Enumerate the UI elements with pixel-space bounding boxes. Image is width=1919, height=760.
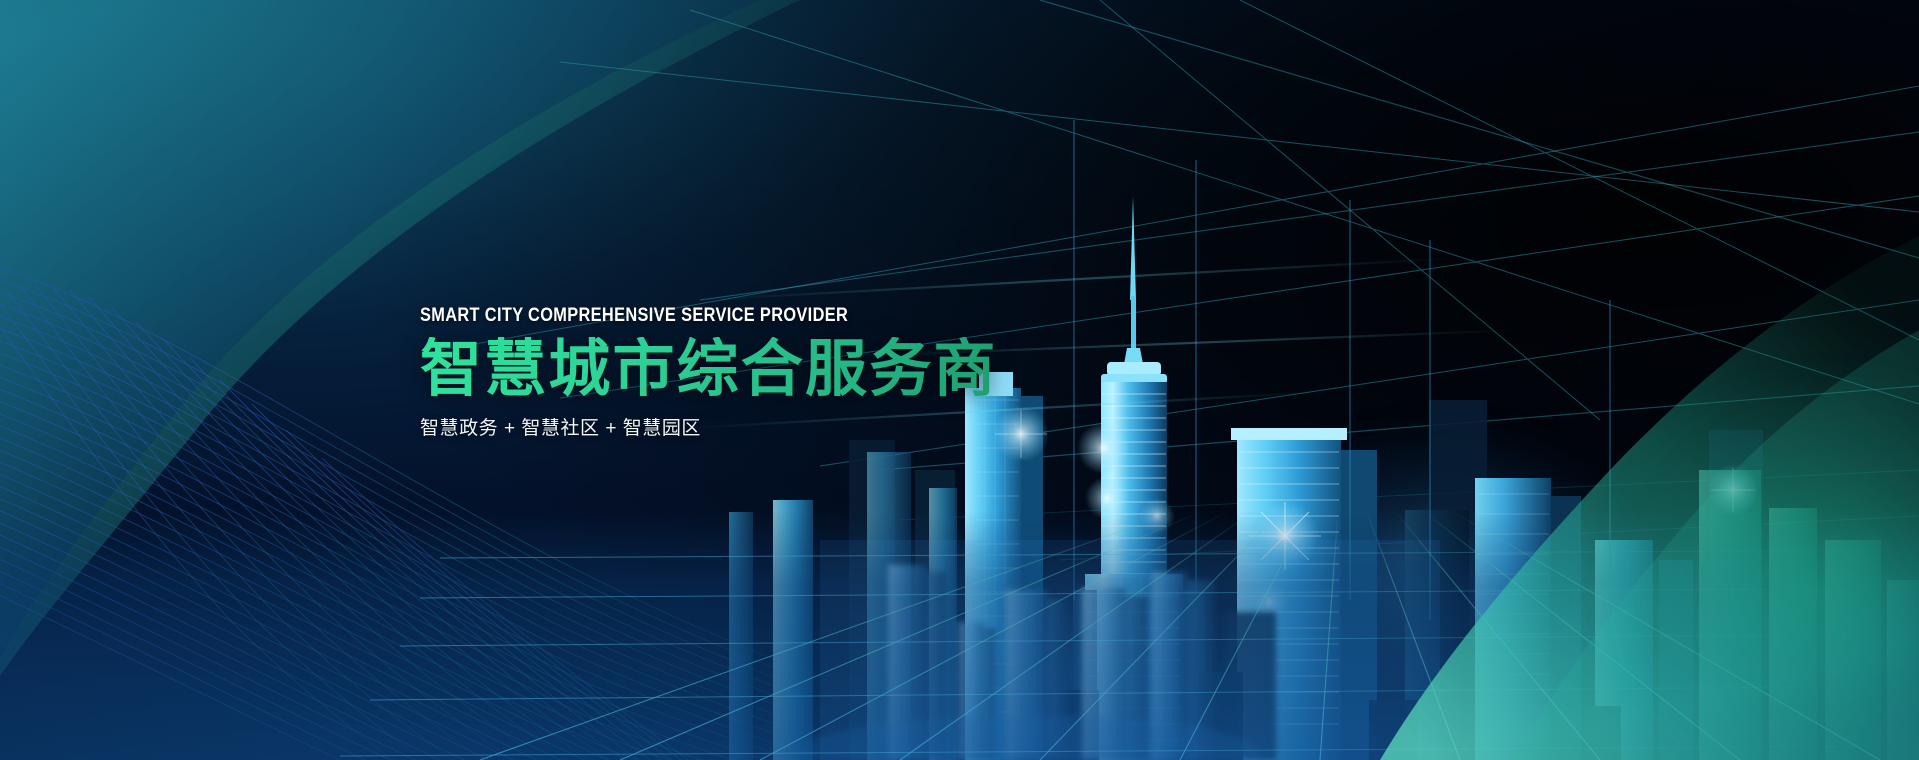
banner-eyebrow-text: SMART CITY COMPREHENSIVE SERVICE PROVIDE…: [420, 306, 1074, 325]
banner-headline-title: 智慧城市综合服务商: [420, 337, 1180, 403]
smart-city-hero-banner: SMART CITY COMPREHENSIVE SERVICE PROVIDE…: [0, 0, 1919, 760]
banner-copy-block: SMART CITY COMPREHENSIVE SERVICE PROVIDE…: [420, 306, 1180, 438]
banner-subtitle-text: 智慧政务 + 智慧社区 + 智慧园区: [420, 419, 1180, 438]
